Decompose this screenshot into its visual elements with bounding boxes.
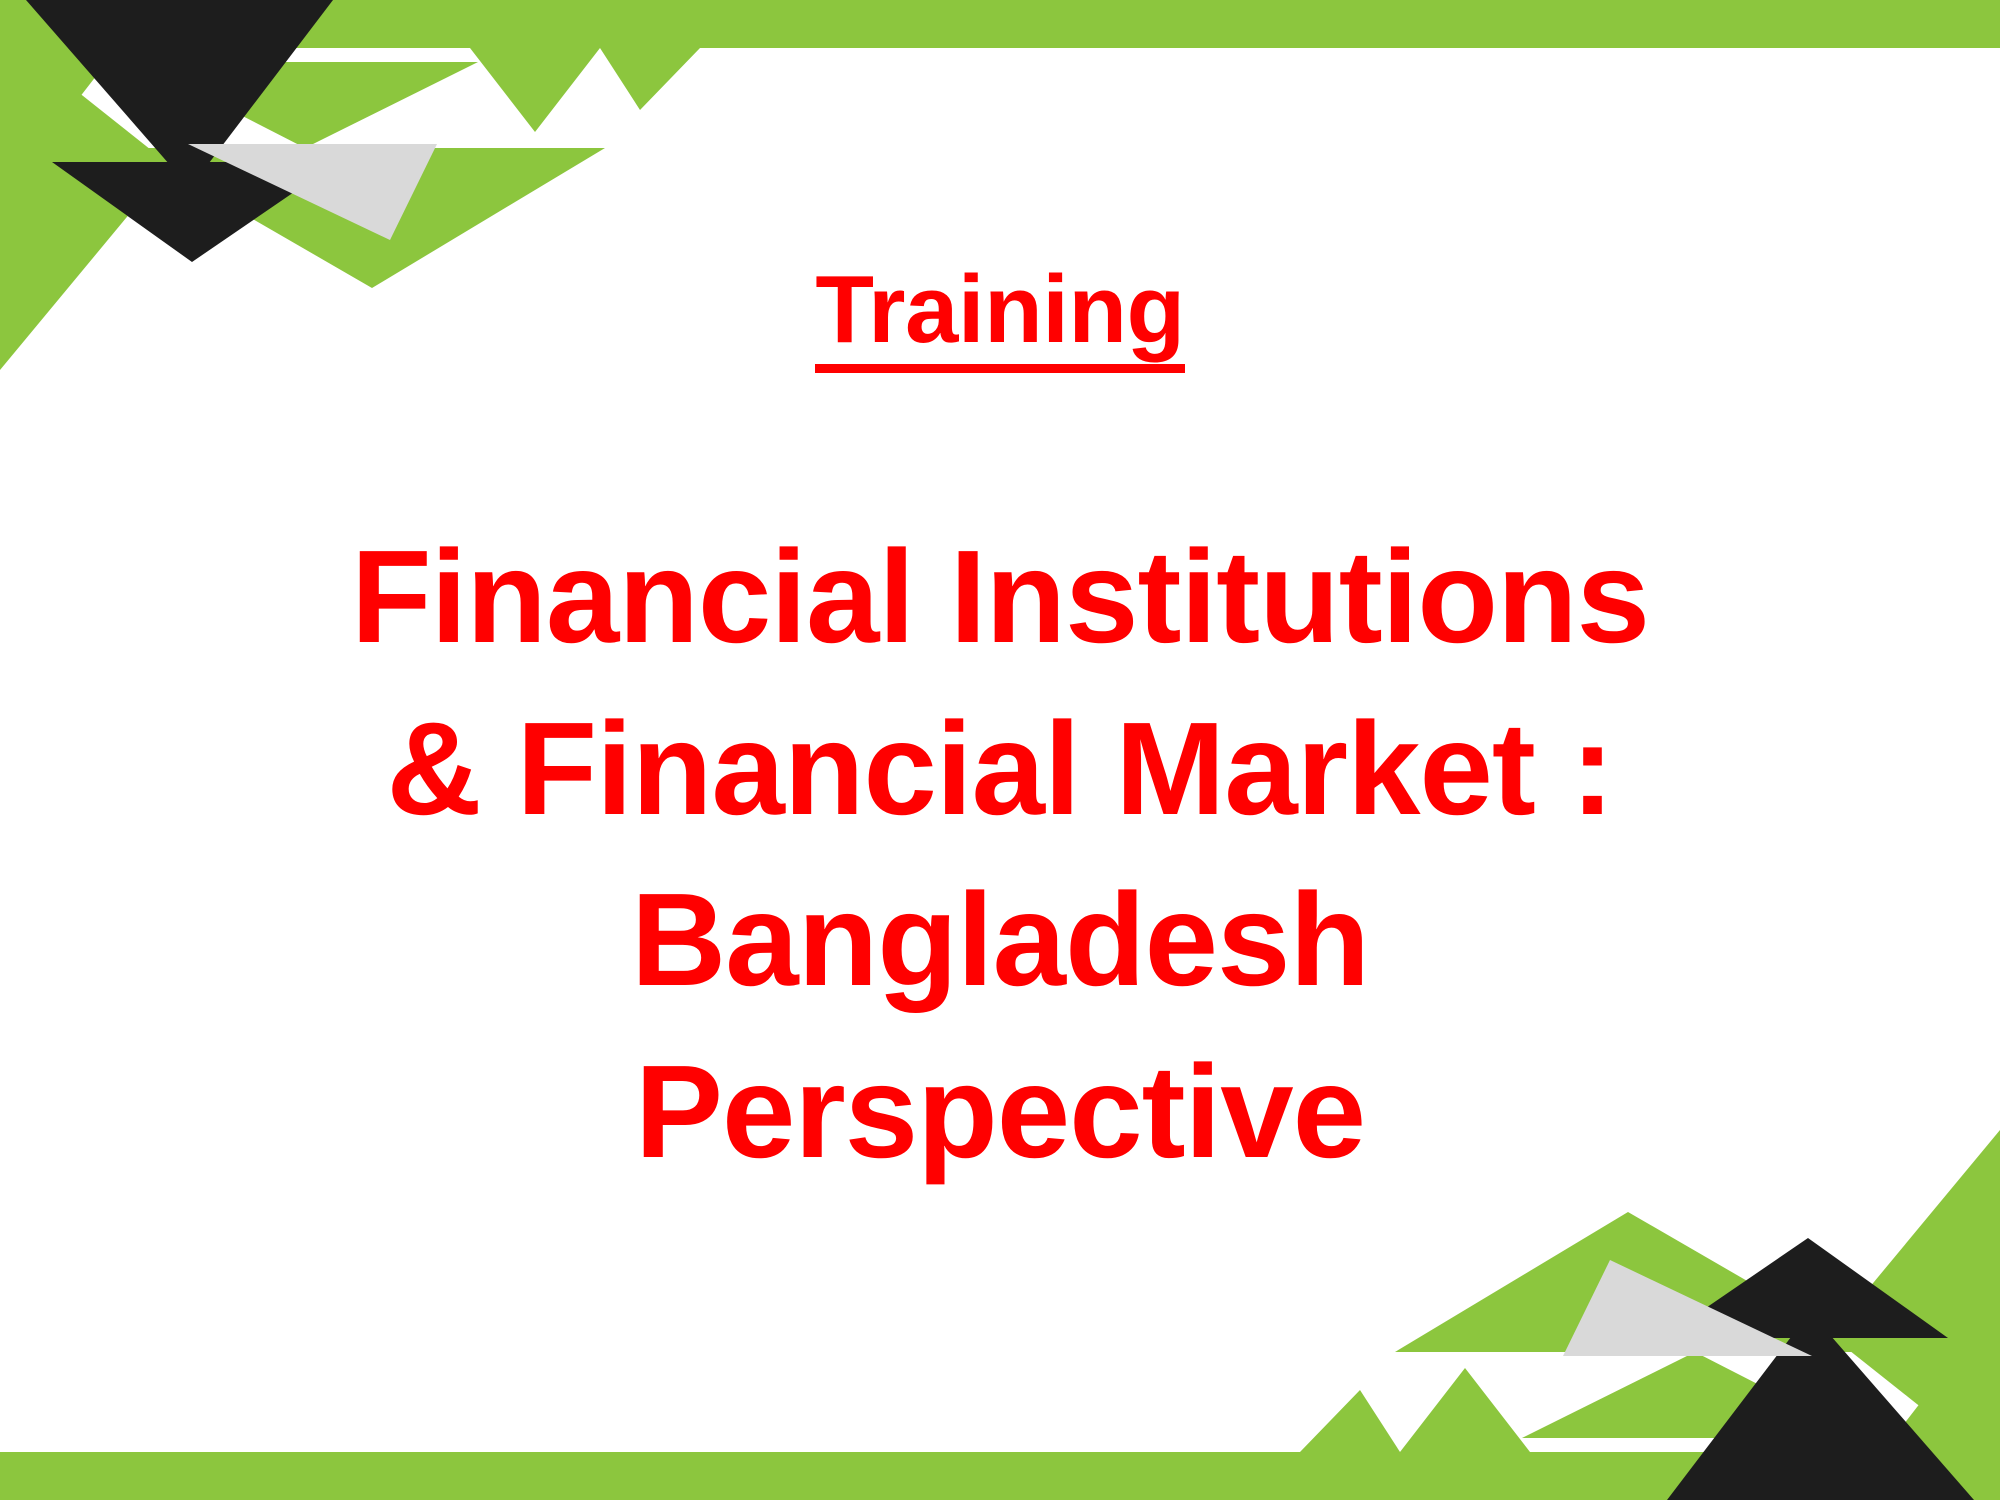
title-line-2: & Financial Market : bbox=[290, 683, 1710, 855]
title-line-1: Financial Institutions bbox=[290, 511, 1710, 683]
title-line-4: Perspective bbox=[290, 1026, 1710, 1198]
slide-main-title: Financial Institutions & Financial Marke… bbox=[290, 511, 1710, 1197]
title-line-3: Bangladesh bbox=[290, 854, 1710, 1026]
slide-content: Training Financial Institutions & Financ… bbox=[0, 0, 2000, 1500]
presentation-slide: Training Financial Institutions & Financ… bbox=[0, 0, 2000, 1500]
slide-kicker-heading: Training bbox=[815, 262, 1184, 373]
